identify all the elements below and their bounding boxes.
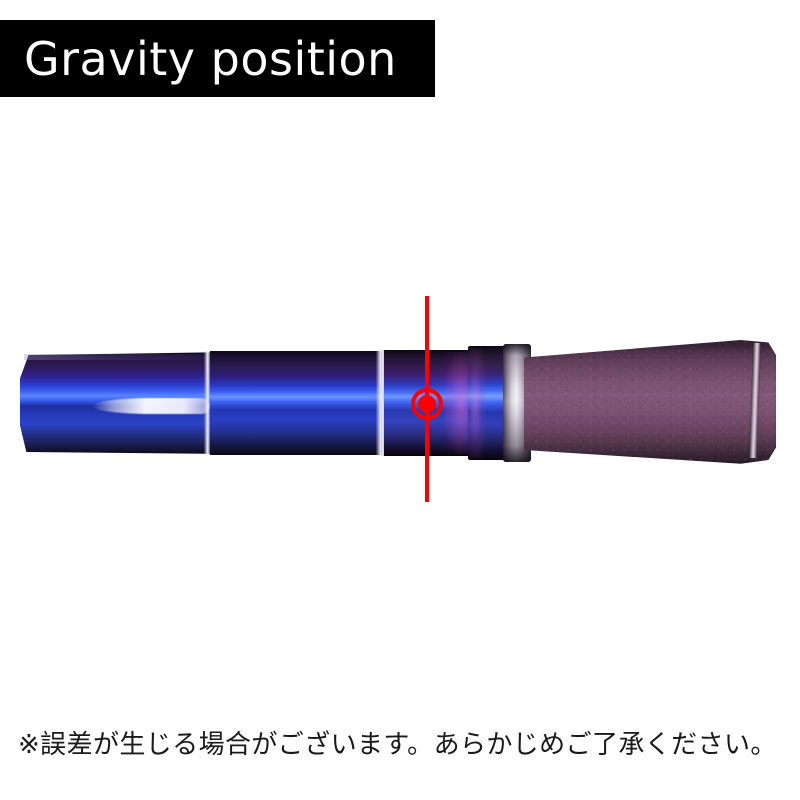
gravity-center-dot: [418, 395, 436, 413]
barrel-front-highlight-streak: [92, 398, 210, 414]
page-title: Gravity position: [0, 36, 397, 82]
product-image: [0, 280, 800, 520]
disclaimer-footnote: ※誤差が生じる場合がございます。あらかじめご了承ください。: [18, 724, 777, 761]
title-banner: Gravity position: [0, 20, 435, 97]
barrel-front-top-sheen: [24, 354, 230, 360]
barrel-step-pink-sheen: [468, 348, 486, 458]
barrel-mid-section: [210, 351, 382, 455]
rear-grip-texture: [524, 340, 776, 465]
